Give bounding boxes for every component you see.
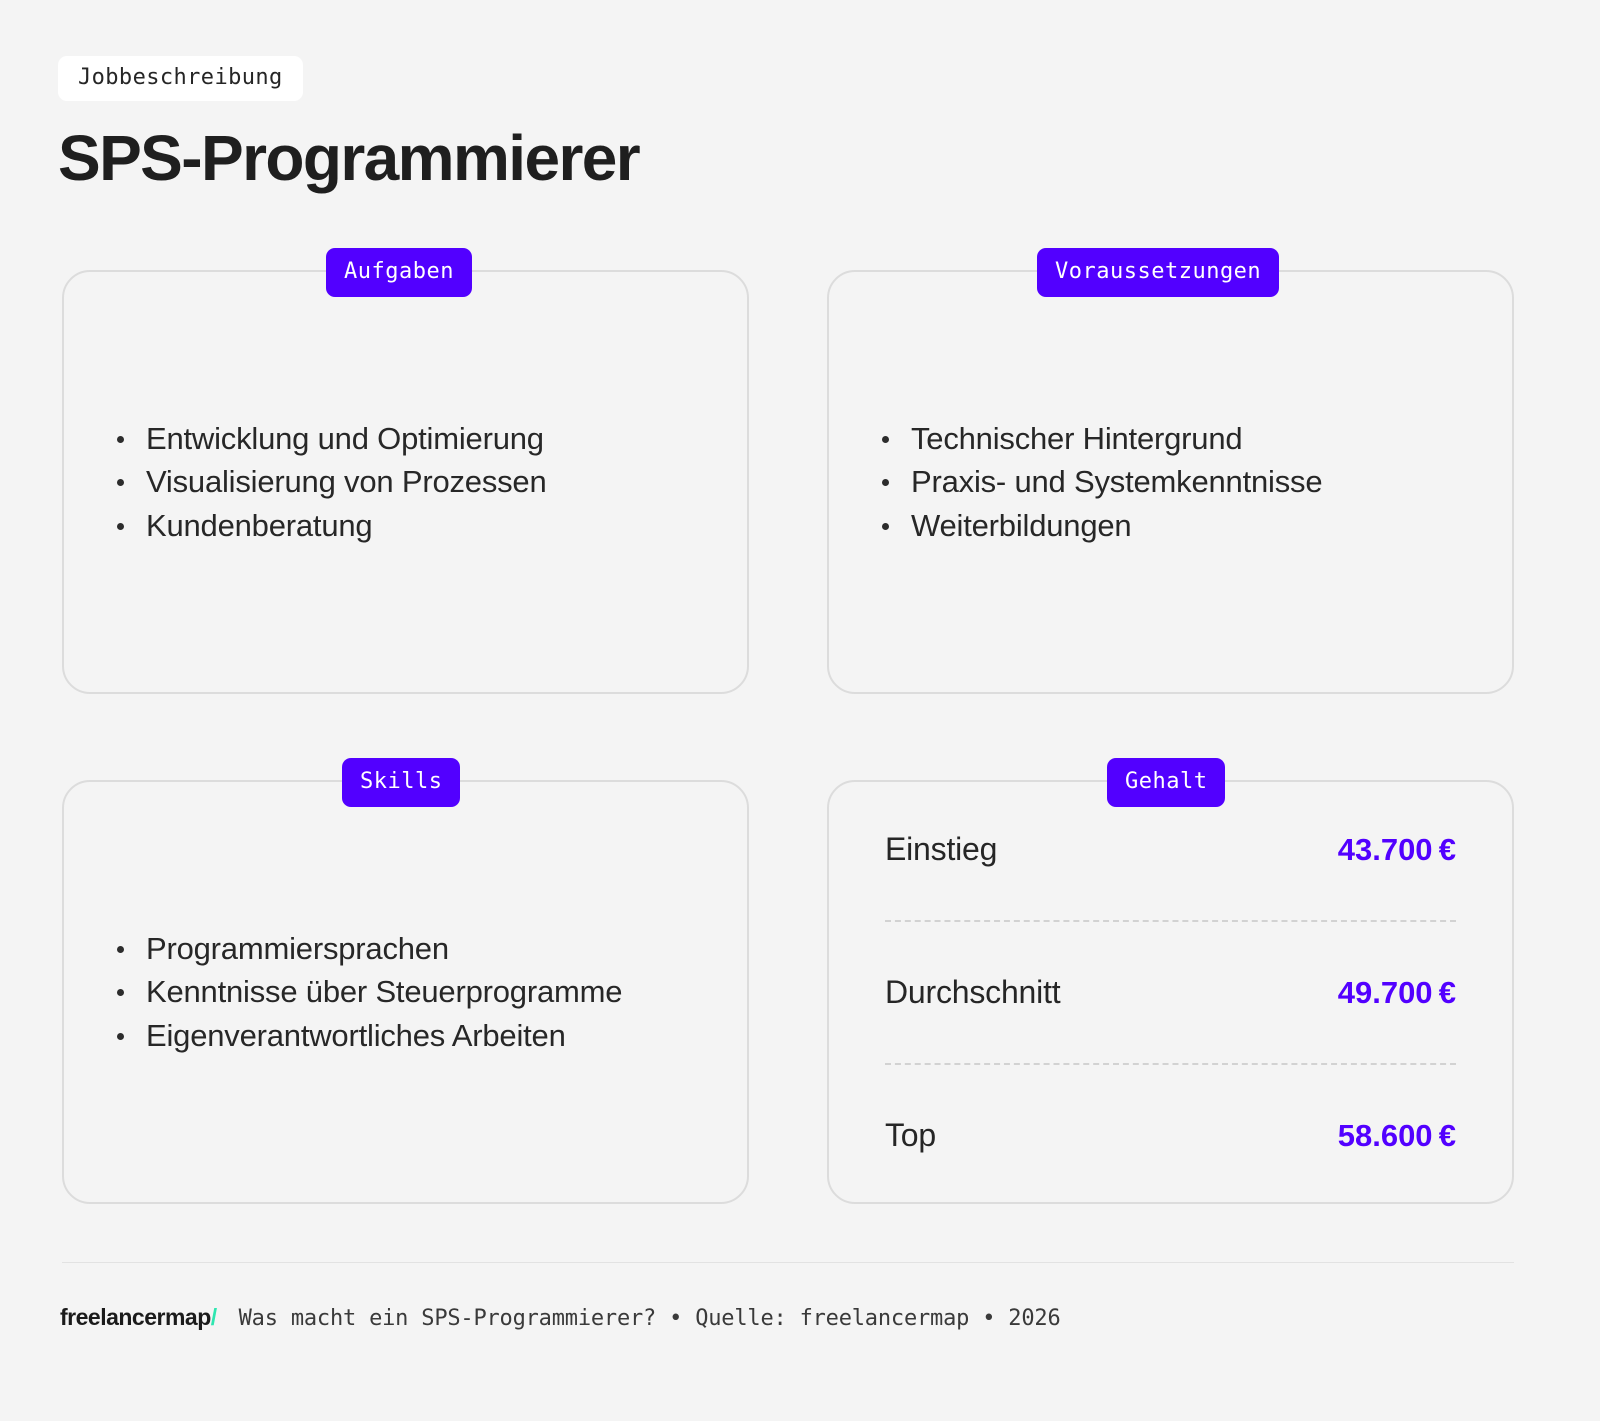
salary-value: 49.700 € bbox=[1338, 975, 1456, 1011]
kicker-badge: Jobbeschreibung bbox=[58, 56, 303, 101]
logo-wordmark: freelancermap bbox=[60, 1304, 211, 1330]
card-body-skills: Programmiersprachen Kenntnisse über Steu… bbox=[64, 782, 747, 1202]
list-item: Weiterbildungen bbox=[875, 504, 1466, 547]
list-skills: Programmiersprachen Kenntnisse über Steu… bbox=[110, 927, 701, 1056]
card-gehalt: Gehalt Einstieg 43.700 € Durchschnitt 49… bbox=[827, 780, 1514, 1204]
salary-value: 58.600 € bbox=[1338, 1118, 1456, 1154]
card-aufgaben: Aufgaben Entwicklung und Optimierung Vis… bbox=[62, 270, 749, 694]
salary-table: Einstieg 43.700 € Durchschnitt 49.700 € … bbox=[875, 831, 1466, 1154]
footer-divider bbox=[62, 1262, 1514, 1263]
list-item: Technischer Hintergrund bbox=[875, 417, 1466, 460]
salary-label: Durchschnitt bbox=[885, 974, 1060, 1011]
card-body-voraussetzungen: Technischer Hintergrund Praxis- und Syst… bbox=[829, 272, 1512, 692]
card-body-gehalt: Einstieg 43.700 € Durchschnitt 49.700 € … bbox=[829, 782, 1512, 1202]
page-title: SPS-Programmierer bbox=[58, 125, 1538, 192]
card-voraussetzungen: Voraussetzungen Technischer Hintergrund … bbox=[827, 270, 1514, 694]
salary-row-top: Top 58.600 € bbox=[885, 1117, 1456, 1154]
list-voraussetzungen: Technischer Hintergrund Praxis- und Syst… bbox=[875, 417, 1466, 546]
salary-value: 43.700 € bbox=[1338, 832, 1456, 868]
page-footer: freelancermap/ Was macht ein SPS-Program… bbox=[60, 1304, 1060, 1331]
infographic-page: Jobbeschreibung SPS-Programmierer Aufgab… bbox=[0, 0, 1600, 1421]
salary-row-durchschnitt: Durchschnitt 49.700 € bbox=[885, 974, 1456, 1011]
list-aufgaben: Entwicklung und Optimierung Visualisieru… bbox=[110, 417, 701, 546]
list-item: Praxis- und Systemkenntnisse bbox=[875, 460, 1466, 503]
card-grid: Aufgaben Entwicklung und Optimierung Vis… bbox=[62, 270, 1514, 1204]
list-item: Kundenberatung bbox=[110, 504, 701, 547]
list-item: Programmiersprachen bbox=[110, 927, 701, 970]
list-item: Entwicklung und Optimierung bbox=[110, 417, 701, 460]
page-header: Jobbeschreibung SPS-Programmierer bbox=[58, 56, 1538, 192]
salary-separator bbox=[885, 1063, 1456, 1065]
list-item: Eigenverantwortliches Arbeiten bbox=[110, 1014, 701, 1057]
salary-label: Top bbox=[885, 1117, 936, 1154]
card-body-aufgaben: Entwicklung und Optimierung Visualisieru… bbox=[64, 272, 747, 692]
footer-source-text: Was macht ein SPS-Programmierer? • Quell… bbox=[239, 1306, 1061, 1331]
salary-row-einstieg: Einstieg 43.700 € bbox=[885, 831, 1456, 868]
list-item: Visualisierung von Prozessen bbox=[110, 460, 701, 503]
list-item: Kenntnisse über Steuerprogramme bbox=[110, 970, 701, 1013]
salary-separator bbox=[885, 920, 1456, 922]
salary-label: Einstieg bbox=[885, 831, 997, 868]
logo-slash-icon: / bbox=[211, 1304, 217, 1330]
freelancermap-logo: freelancermap/ bbox=[60, 1304, 217, 1331]
card-skills: Skills Programmiersprachen Kenntnisse üb… bbox=[62, 780, 749, 1204]
